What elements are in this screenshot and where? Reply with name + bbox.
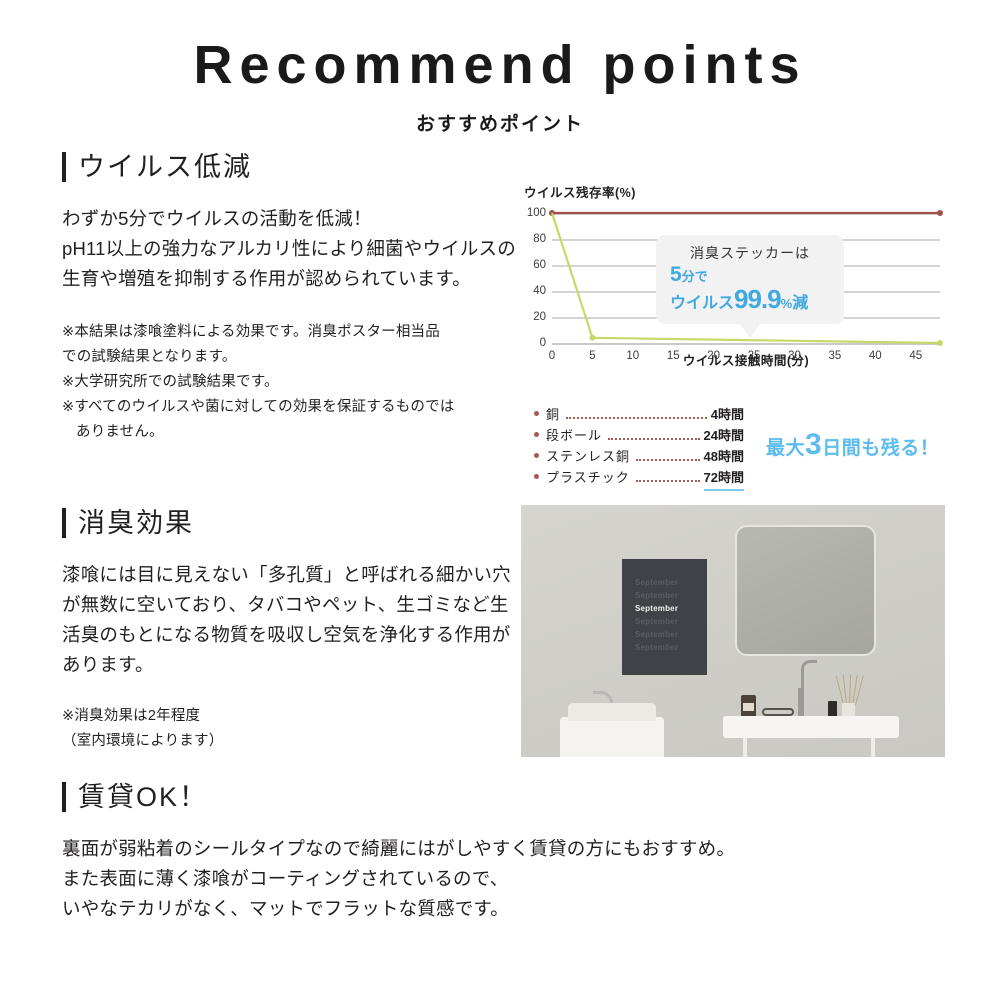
reed-stick bbox=[843, 675, 847, 705]
chart-plot-area: 100 80 60 40 20 0 0 5 10 15 20 25 30 35 … bbox=[552, 213, 940, 343]
legend-leader-dots bbox=[608, 438, 700, 440]
gridline-zero: 0 bbox=[552, 343, 940, 345]
chart-x-axis-label: ウイルス接触時間(分) bbox=[552, 350, 940, 369]
note-line: での試験結果となります。 bbox=[62, 345, 522, 370]
section-heading-rental: 賃貸OK！ bbox=[62, 782, 862, 812]
section-notes-virus: ※本結果は漆喰塗料による効果です。消臭ポスター相当品 での試験結果となります。 … bbox=[62, 320, 522, 445]
legend-item-name: プラスチック bbox=[546, 467, 630, 488]
reed-diffuser-sticks bbox=[843, 673, 857, 705]
max-days-number: 3 bbox=[805, 428, 822, 461]
section-body-rental: 裏面が弱粘着のシールタイプなので綺麗にはがしやすく賃貸の方にもおすすめ。 また表… bbox=[62, 834, 862, 924]
y-tick-label: 100 bbox=[527, 207, 546, 219]
vanity-legs bbox=[743, 738, 875, 757]
callout-virus-kana: ウイルス bbox=[670, 295, 734, 312]
callout-reduction-number: 99.9 bbox=[734, 284, 781, 314]
note-line: （室内環境によります） bbox=[62, 729, 522, 754]
chart-y-axis-label: ウイルス残存率(%) bbox=[524, 182, 944, 201]
note-line: ※本結果は漆喰塗料による効果です。消臭ポスター相当品 bbox=[62, 320, 522, 345]
chart-data-point bbox=[589, 335, 595, 341]
callout-minutes-unit: 分 bbox=[682, 269, 695, 284]
legend-leader-dots bbox=[636, 480, 700, 482]
callout-percent-sign: % bbox=[781, 296, 793, 311]
poster-line: September bbox=[622, 577, 707, 590]
amber-bottle bbox=[741, 695, 756, 717]
legend-item-value: 48時間 bbox=[704, 446, 744, 467]
page-subtitle: おすすめポイント bbox=[0, 109, 1000, 136]
heading-bar-icon bbox=[62, 782, 66, 812]
section-heading-virus: ウイルス低減 bbox=[62, 152, 522, 182]
legend-item-value: 72時間 bbox=[704, 467, 744, 491]
bathroom-photo: September September September September … bbox=[521, 505, 945, 757]
legend-row: ステンレス銅 48時間 bbox=[534, 446, 744, 467]
left-basin bbox=[560, 717, 664, 757]
max-days-callout: 最大3日間も残る！ bbox=[766, 428, 939, 462]
note-line: ※大学研究所での試験結果です。 bbox=[62, 370, 522, 395]
callout-line-2: 5分で bbox=[666, 264, 834, 286]
poster-line: September bbox=[622, 629, 707, 642]
legend-row: 銅 4時間 bbox=[534, 404, 744, 425]
wall-mirror bbox=[735, 525, 876, 656]
section-deodorizing-effect: 消臭効果 漆喰には目に見えない「多孔質」と呼ばれる細かい穴が無数に空いており、タ… bbox=[62, 508, 522, 754]
poster-line: September bbox=[622, 616, 707, 629]
section-body-virus: わずか5分でウイルスの活動を低減！ pH11以上の強力なアルカリ性により細菌やウ… bbox=[62, 204, 522, 294]
heading-bar-icon bbox=[62, 152, 66, 182]
callout-minutes-number: 5 bbox=[670, 263, 682, 286]
legend-dot-icon bbox=[534, 411, 539, 416]
page-title: Recommend points bbox=[0, 36, 1000, 95]
section-title-virus: ウイルス低減 bbox=[78, 154, 252, 181]
poster-line: September bbox=[622, 590, 707, 603]
poster-line: September bbox=[622, 642, 707, 655]
section-rental-ok: 賃貸OK！ 裏面が弱粘着のシールタイプなので綺麗にはがしやすく賃貸の方にもおすす… bbox=[62, 782, 862, 924]
note-line: ありません。 bbox=[62, 420, 522, 445]
y-tick-label: 40 bbox=[533, 285, 546, 297]
section-title-deodor: 消臭効果 bbox=[78, 510, 194, 537]
y-tick-label: 80 bbox=[533, 233, 546, 245]
section-virus-reduction: ウイルス低減 わずか5分でウイルスの活動を低減！ pH11以上の強力なアルカリ性… bbox=[62, 152, 522, 445]
note-line: ※消臭効果は2年程度 bbox=[62, 704, 522, 729]
chart-data-point bbox=[937, 340, 943, 346]
legend-dot-icon bbox=[534, 474, 539, 479]
virus-survival-chart: ウイルス残存率(%) 100 80 60 40 20 0 0 5 10 15 2… bbox=[524, 182, 944, 392]
right-faucet-stem bbox=[798, 688, 804, 716]
legend-item-name: 段ボール bbox=[546, 425, 602, 446]
legend-leader-dots bbox=[566, 417, 707, 419]
section-notes-deodor: ※消臭効果は2年程度 （室内環境によります） bbox=[62, 704, 522, 754]
section-body-deodor: 漆喰には目に見えない「多孔質」と呼ばれる細かい穴が無数に空いており、タバコやペッ… bbox=[62, 560, 522, 680]
callout-line-1: 消臭ステッカーは bbox=[666, 244, 834, 262]
callout-line-3: ウイルス99.9%減 bbox=[666, 286, 834, 313]
legend-leader-dots bbox=[636, 459, 700, 461]
legend-row: プラスチック 72時間 bbox=[534, 467, 744, 491]
legend-item-value: 24時間 bbox=[704, 425, 744, 446]
legend-item-value: 4時間 bbox=[711, 404, 744, 425]
y-tick-label: 20 bbox=[533, 311, 546, 323]
legend-item-name: 銅 bbox=[546, 404, 560, 425]
september-poster: September September September September … bbox=[622, 559, 707, 675]
vanity-counter bbox=[723, 716, 899, 738]
legend-item-name: ステンレス銅 bbox=[546, 446, 630, 467]
callout-bubble: 消臭ステッカーは 5分で ウイルス99.9%減 bbox=[656, 235, 844, 324]
poster-line-highlight: September bbox=[622, 603, 707, 616]
chart-data-point bbox=[937, 210, 943, 216]
right-faucet-icon bbox=[801, 660, 817, 690]
page-header: Recommend points おすすめポイント bbox=[0, 0, 1000, 136]
note-line: ※すべてのウイルスや菌に対しての効果を保証するものでは bbox=[62, 395, 522, 420]
y-tick-label: 60 bbox=[533, 259, 546, 271]
legend-dot-icon bbox=[534, 432, 539, 437]
callout-minutes-tail: で bbox=[695, 269, 708, 284]
callout-reduction-tail: 減 bbox=[792, 295, 808, 312]
max-days-prefix: 最大 bbox=[766, 438, 805, 459]
eyeglasses-icon bbox=[762, 708, 794, 716]
legend-row: 段ボール 24時間 bbox=[534, 425, 744, 446]
max-days-suffix: 日間も残る！ bbox=[822, 438, 939, 459]
section-heading-deodor: 消臭効果 bbox=[62, 508, 522, 538]
legend-dot-icon bbox=[534, 453, 539, 458]
section-title-rental: 賃貸OK！ bbox=[78, 784, 208, 811]
heading-bar-icon bbox=[62, 508, 66, 538]
reed-stick bbox=[849, 675, 851, 705]
survival-time-legend: 銅 4時間 段ボール 24時間 ステンレス銅 48時間 プラスチック 72時間 bbox=[534, 404, 744, 491]
y-tick-label: 0 bbox=[540, 337, 546, 349]
